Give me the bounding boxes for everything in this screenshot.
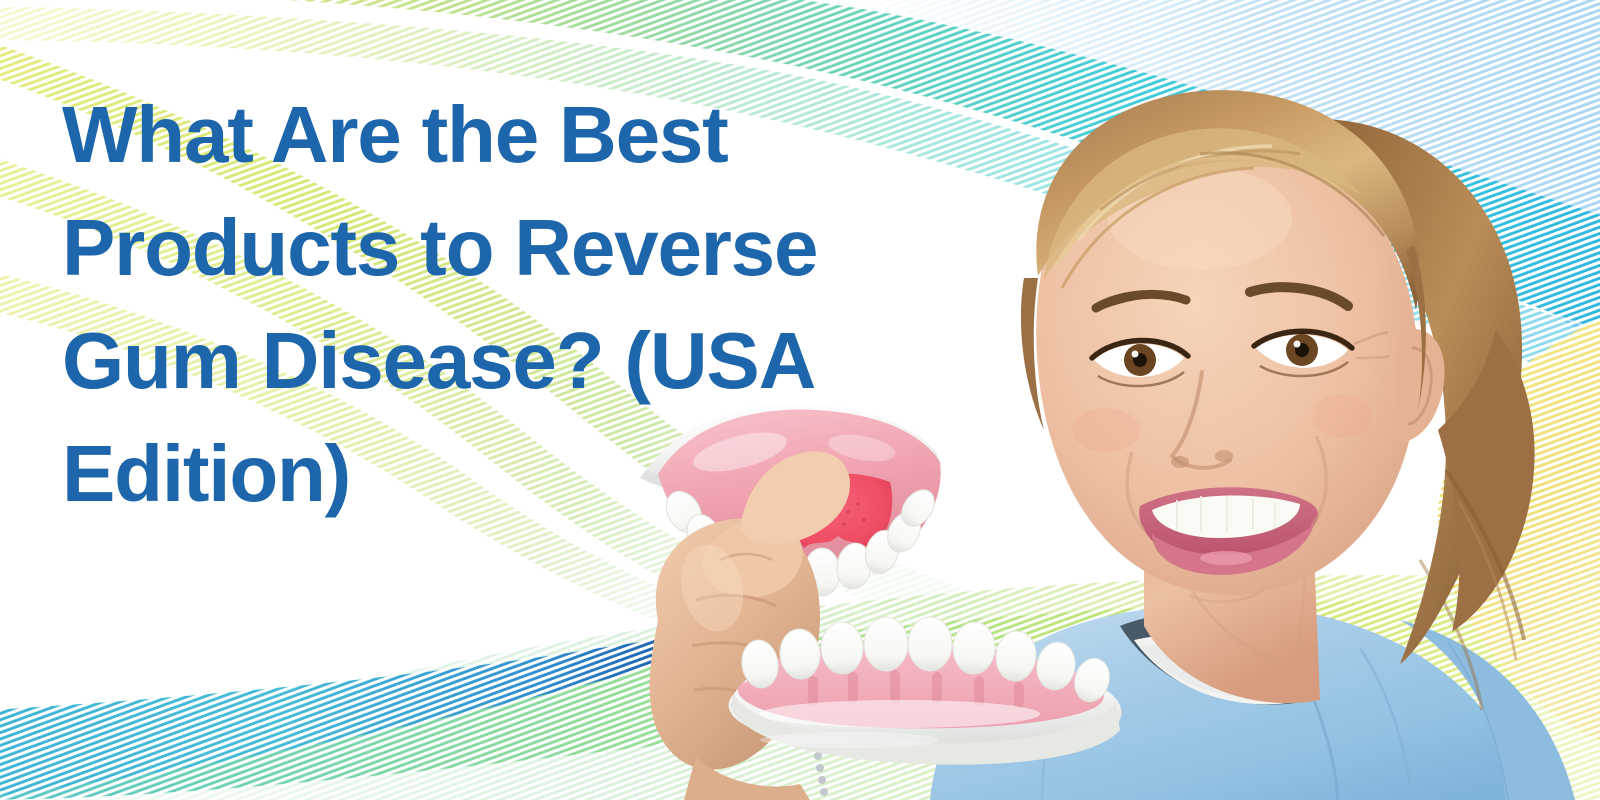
ear — [1397, 329, 1444, 442]
headline-line-3: Gum Disease? (USA — [62, 304, 1022, 417]
headline-line-1: What Are the Best — [62, 78, 1022, 191]
headline-line-2: Products to Reverse — [62, 191, 1022, 304]
headline: What Are the Best Products to Reverse Gu… — [62, 78, 1022, 530]
headline-line-4: Edition) — [62, 417, 1022, 530]
hero-banner: What Are the Best Products to Reverse Gu… — [0, 0, 1600, 800]
